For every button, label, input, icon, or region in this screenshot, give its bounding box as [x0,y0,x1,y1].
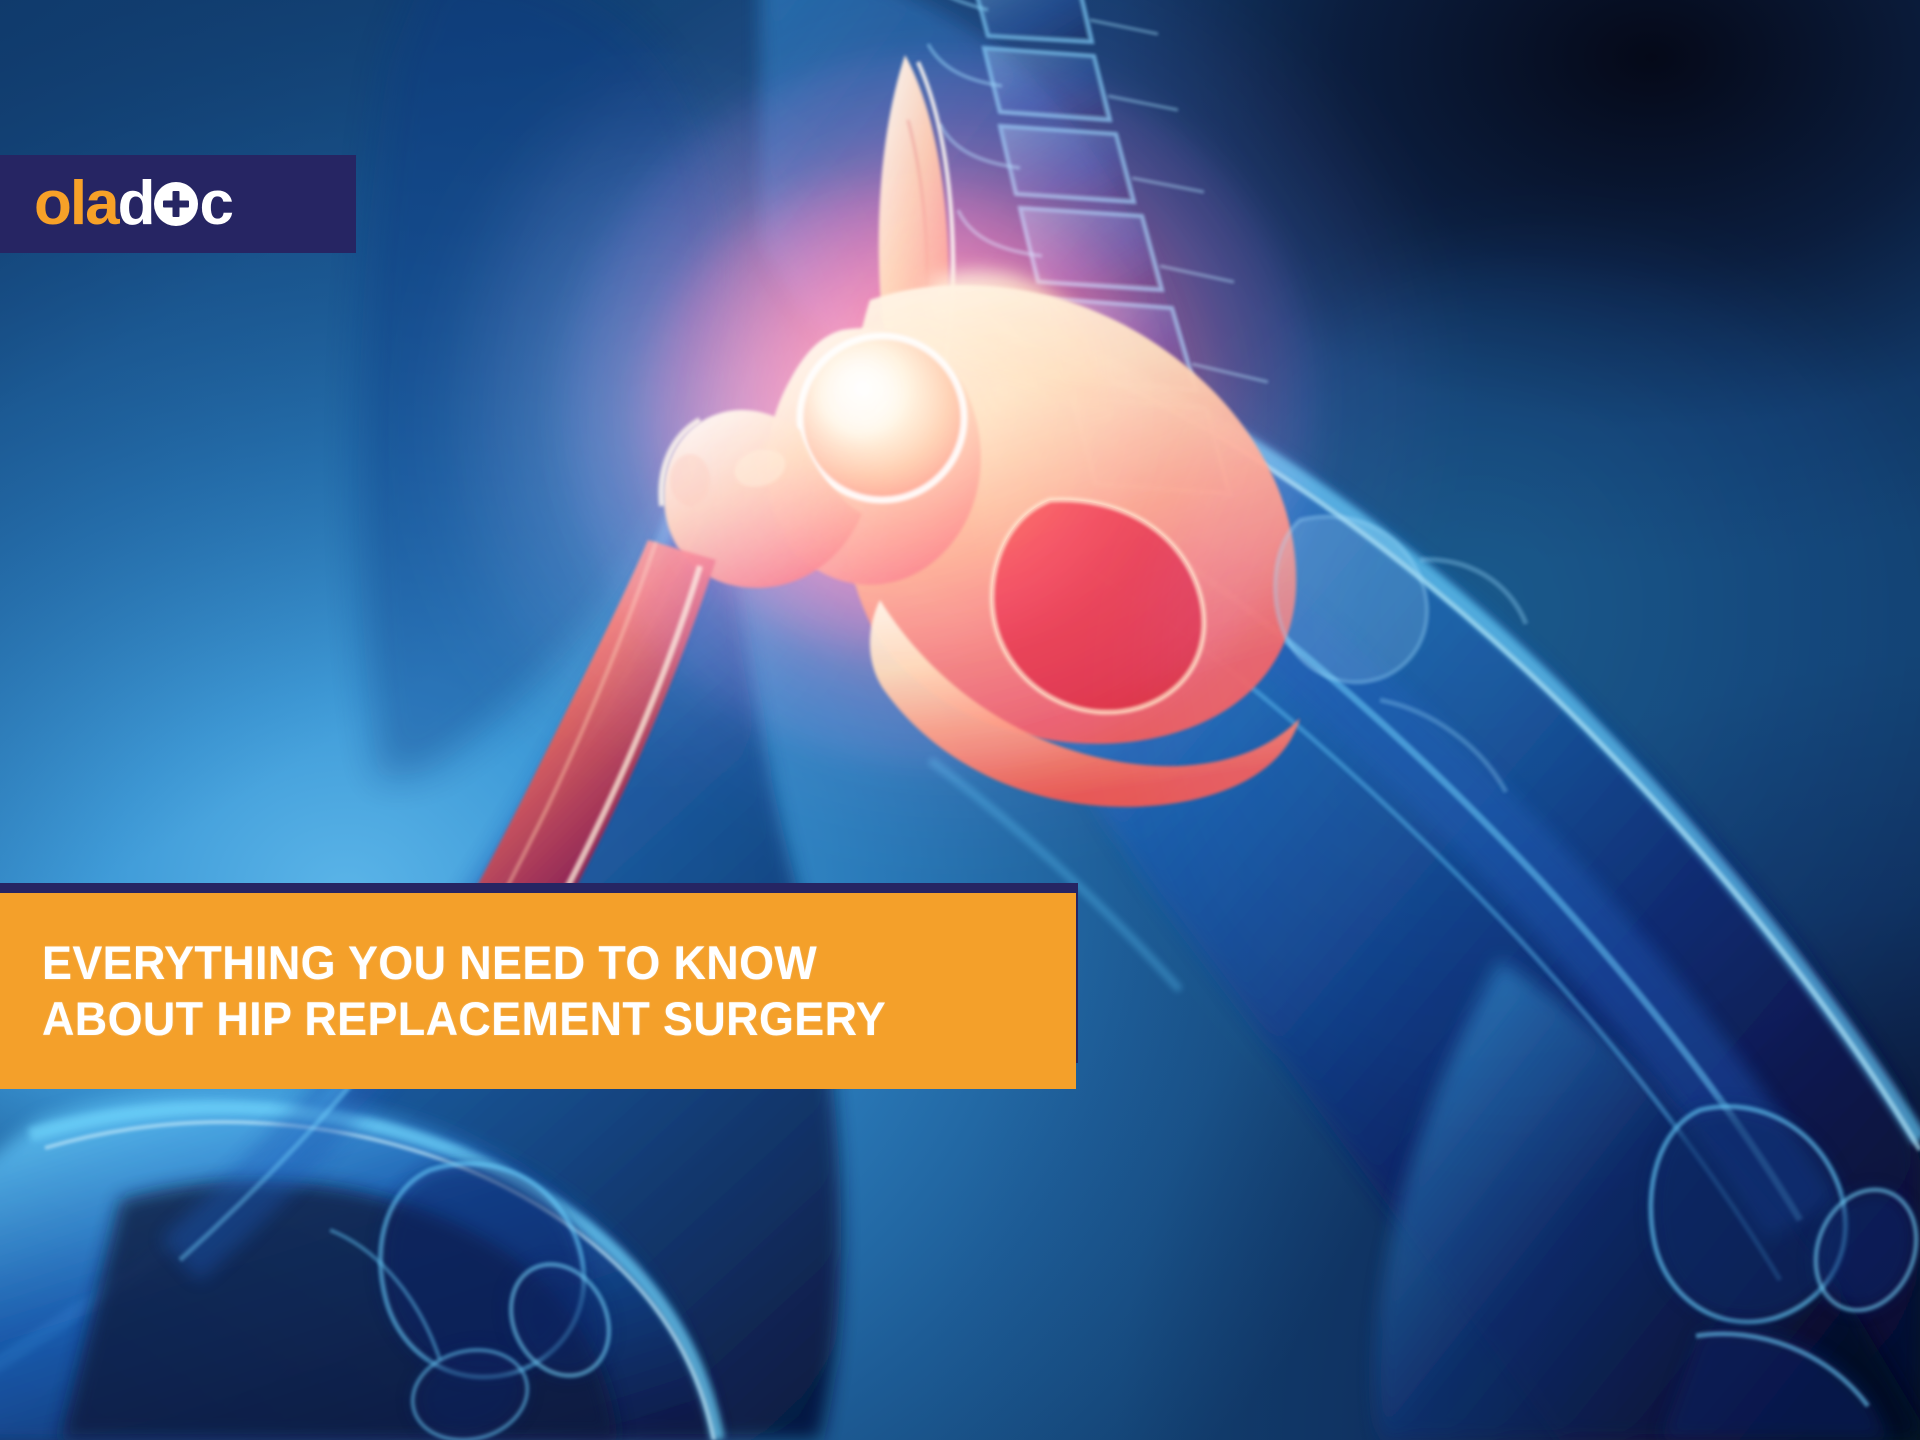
logo-text-c: c [199,173,231,235]
logo-text-d: d [118,173,154,235]
plus-in-circle-icon [154,182,198,226]
hero-banner: oladc EVERYTHING YOU NEED TO KNOW ABOUT … [0,0,1920,1440]
headline-line-1: EVERYTHING YOU NEED TO KNOW [42,935,1029,991]
logo-text-ola: ola [34,173,118,235]
headline-banner: EVERYTHING YOU NEED TO KNOW ABOUT HIP RE… [0,893,1076,1089]
headline-line-2: ABOUT HIP REPLACEMENT SURGERY [42,991,1029,1047]
logo-wordmark: oladc [34,173,232,235]
oladoc-logo[interactable]: oladc [0,155,356,253]
